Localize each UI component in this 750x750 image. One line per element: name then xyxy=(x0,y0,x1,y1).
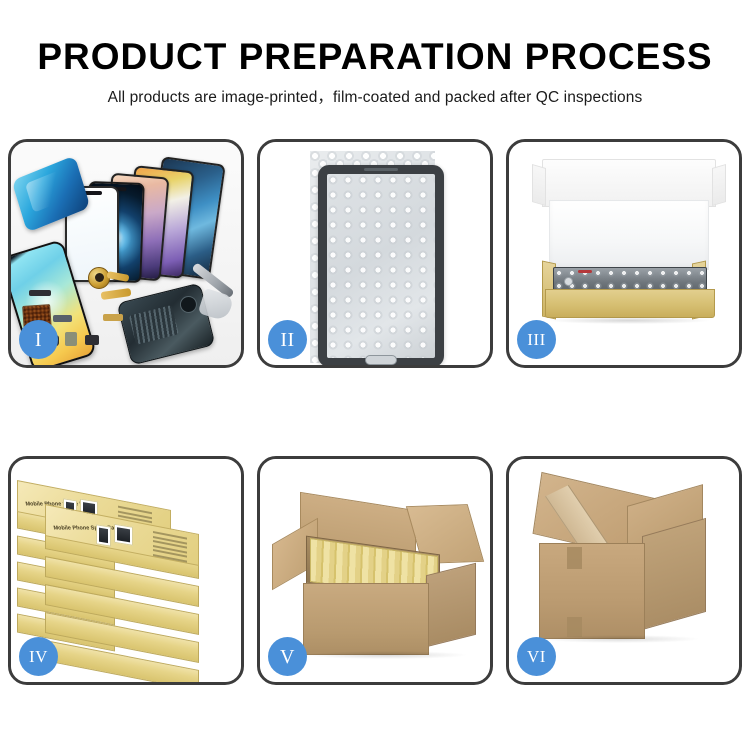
carton-front-wall xyxy=(303,583,429,655)
wrapped-phone-screen xyxy=(318,165,444,365)
speaker-module-icon xyxy=(88,267,110,289)
step-badge-6: VI xyxy=(517,637,556,676)
box-shadow xyxy=(549,317,709,324)
small-part-5 xyxy=(85,335,99,345)
step-badge-3: III xyxy=(517,320,556,359)
step-panel-3: III xyxy=(506,139,742,368)
header: PRODUCT PREPARATION PROCESS All products… xyxy=(0,0,750,106)
box-phone-thumb-3 xyxy=(96,524,111,546)
small-part-4 xyxy=(65,332,77,346)
product-preparation-infographic: PRODUCT PREPARATION PROCESS All products… xyxy=(0,0,750,750)
box-front-wall xyxy=(545,289,715,318)
step-panel-1: I xyxy=(8,139,244,368)
foam-lining xyxy=(549,200,709,270)
carton-side-wall xyxy=(642,518,706,630)
small-part-6 xyxy=(53,315,72,322)
bubble-highlight xyxy=(564,277,573,286)
step-badge-5: V xyxy=(268,637,307,676)
box-phone-thumb-4 xyxy=(114,524,133,546)
small-part-7 xyxy=(103,314,123,321)
carton-front-wall xyxy=(539,543,645,639)
step-panel-6: VI xyxy=(506,456,742,685)
step-badge-2: II xyxy=(268,320,307,359)
steps-grid: I II xyxy=(8,139,742,684)
camera-module-icon xyxy=(178,294,199,315)
page-subtitle: All products are image-printed，film-coat… xyxy=(0,90,750,106)
carton-tab-bottom xyxy=(567,617,582,637)
page-title: PRODUCT PREPARATION PROCESS xyxy=(0,38,750,75)
board-circuit-strip xyxy=(129,305,179,345)
step-badge-1: I xyxy=(19,320,58,359)
carton-shadow xyxy=(543,635,698,643)
step-panel-2: II xyxy=(257,139,493,368)
label-sticker xyxy=(578,270,592,273)
carton-tab-top xyxy=(567,547,582,569)
small-part-1 xyxy=(29,290,51,296)
box-label-text-2: Mobile Phone Spare Parts xyxy=(53,525,122,531)
step-panel-5: V xyxy=(257,456,493,685)
step-badge-4: IV xyxy=(19,637,58,676)
carton-side-wall xyxy=(426,563,476,647)
step-panel-4: Mobile Phone Spare Parts xyxy=(8,456,244,685)
carton-shadow xyxy=(306,651,466,659)
